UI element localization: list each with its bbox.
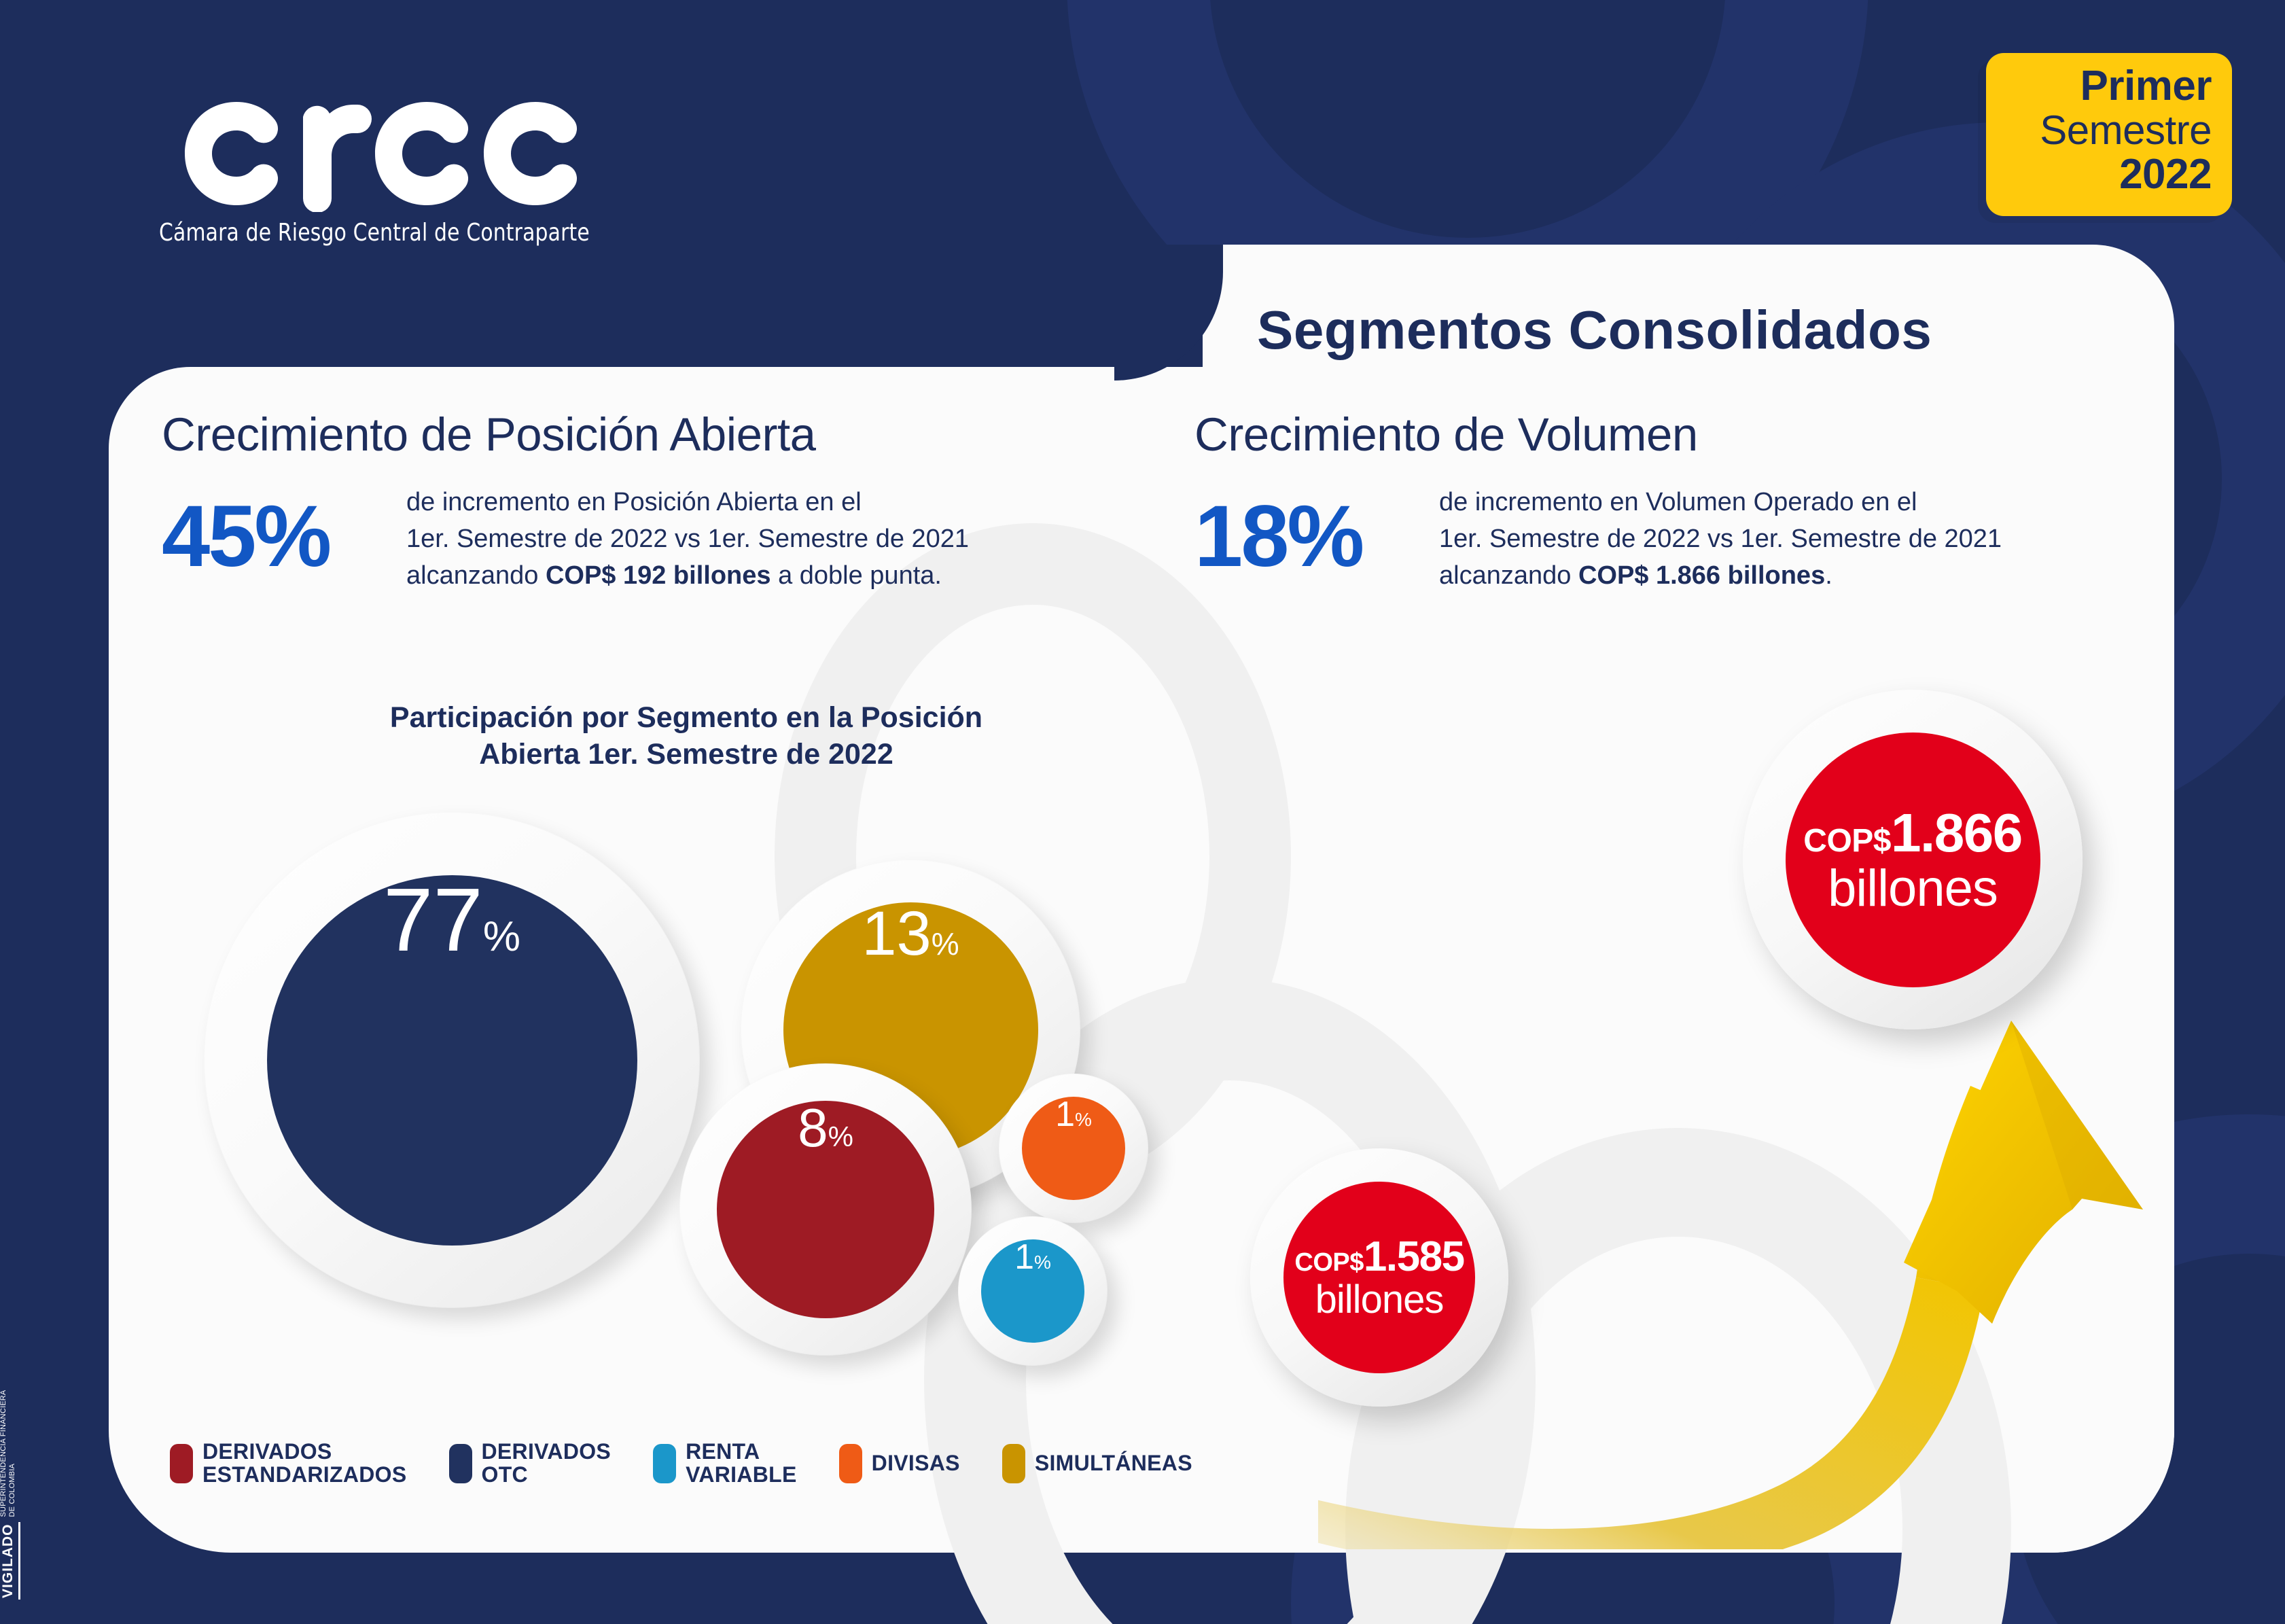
money-bubble-volumen-2021: COP$ 1.585 billones	[1250, 1148, 1508, 1407]
legend-swatch-divisas	[839, 1444, 862, 1483]
money-value-2022: 1.866	[1891, 802, 2022, 864]
pa-line-1: de incremento en Posición Abierta en el	[406, 484, 969, 521]
semester-badge: Primer Semestre 2022	[1986, 53, 2232, 216]
legend-item-derivados-estandarizados: DERIVADOS ESTANDARIZADOS	[170, 1441, 407, 1486]
vol-amount: COP$ 1.866 billones	[1578, 561, 1825, 590]
vigilado-word: VIGILADO	[0, 1522, 20, 1600]
legend-swatch-simultaneas	[1002, 1444, 1025, 1483]
money-unit-2022: billones	[1828, 859, 1998, 918]
money-unit-2021: billones	[1315, 1277, 1444, 1322]
pa-line3-post: a doble punta.	[771, 561, 942, 590]
posicion-abierta-percent: 45%	[162, 478, 406, 578]
volumen-description: de incremento en Volumen Operado en el 1…	[1439, 478, 2002, 595]
bubble-derivados-estandarizados: 8%	[679, 1063, 972, 1356]
pa-amount: COP$ 192 billones	[546, 561, 771, 590]
badge-line-semestre: Semestre	[2000, 110, 2212, 151]
legend-item-simultaneas: SIMULTÁNEAS	[1002, 1444, 1192, 1483]
vol-line3-post: .	[1825, 561, 1832, 590]
bubble-value-estandarizados: 8	[798, 1101, 828, 1155]
volumen-percent: 18%	[1194, 478, 1439, 578]
legend-item-divisas: DIVISAS	[839, 1444, 960, 1483]
pa-line-3: alcanzando COP$ 192 billones a doble pun…	[406, 558, 969, 595]
volumen-stat-block: Crecimiento de Volumen 18% de incremento…	[1194, 408, 2146, 595]
vol-line-3: alcanzando COP$ 1.866 billones.	[1439, 558, 2002, 595]
legend-item-renta-variable: RENTA VARIABLE	[653, 1441, 797, 1486]
vigilado-sub-line1: SUPERINTENDENCIA FINANCIERA	[0, 1390, 8, 1517]
vigilado-strip: VIGILADO SUPERINTENDENCIA FINANCIERA DE …	[20, 1382, 64, 1600]
bubble-value-simultaneas: 13	[862, 902, 931, 965]
legend-label-derivados-estandarizados: DERIVADOS ESTANDARIZADOS	[202, 1441, 407, 1486]
legend-swatch-renta-variable	[653, 1444, 676, 1483]
bubble-value-otc: 77	[383, 875, 483, 965]
bubble-derivados-otc: 77%	[204, 812, 700, 1308]
page-title: Segmentos Consolidados	[1257, 299, 1932, 361]
bubble-unit-otc: %	[483, 916, 520, 958]
bubble-unit-divisas: %	[1075, 1110, 1092, 1129]
badge-line-year: 2022	[2000, 154, 2212, 196]
bubble-value-renta-variable: 1	[1014, 1239, 1034, 1275]
vol-line-2: 1er. Semestre de 2022 vs 1er. Semestre d…	[1439, 521, 2002, 558]
money-value-2021: 1.585	[1364, 1233, 1464, 1281]
segment-legend: DERIVADOS ESTANDARIZADOS DERIVADOS OTC R…	[170, 1441, 1235, 1486]
vol-line3-pre: alcanzando	[1439, 561, 1578, 590]
vigilado-sub-line2: DE COLOMBIA	[8, 1390, 17, 1517]
infographic-root: Cámara de Riesgo Central de Contraparte …	[0, 0, 2285, 1624]
badge-line-primer: Primer	[2000, 65, 2212, 107]
bubble-unit-renta-variable: %	[1034, 1253, 1051, 1272]
bubble-renta-variable: 1%	[958, 1216, 1108, 1366]
legend-label-divisas: DIVISAS	[872, 1452, 960, 1475]
logo-tagline: Cámara de Riesgo Central de Contraparte	[159, 219, 590, 247]
bubble-unit-estandarizados: %	[828, 1123, 853, 1151]
money-bubble-volumen-2022: COP$ 1.866 billones	[1743, 690, 2083, 1029]
posicion-abierta-title: Crecimiento de Posición Abierta	[162, 408, 1140, 461]
money-currency-2021: COP$	[1294, 1248, 1363, 1277]
legend-swatch-derivados-otc	[449, 1444, 472, 1483]
crcc-logotype-icon	[155, 83, 603, 212]
vol-line-1: de incremento en Volumen Operado en el	[1439, 484, 2002, 521]
posicion-abierta-description: de incremento en Posición Abierta en el …	[406, 478, 969, 595]
posicion-abierta-stat-block: Crecimiento de Posición Abierta 45% de i…	[162, 408, 1140, 595]
pa-line3-pre: alcanzando	[406, 561, 546, 590]
bubble-chart-title: Participación por Segmento en la Posició…	[380, 700, 992, 773]
legend-label-derivados-otc: DERIVADOS OTC	[482, 1441, 612, 1486]
legend-swatch-derivados-estandarizados	[170, 1444, 193, 1483]
legend-label-simultaneas: SIMULTÁNEAS	[1035, 1452, 1192, 1475]
legend-label-renta-variable: RENTA VARIABLE	[686, 1441, 797, 1486]
money-currency-2022: COP$	[1803, 822, 1891, 860]
bubble-divisas: 1%	[999, 1074, 1148, 1223]
pa-line-2: 1er. Semestre de 2022 vs 1er. Semestre d…	[406, 521, 969, 558]
volumen-title: Crecimiento de Volumen	[1194, 408, 2146, 461]
legend-item-derivados-otc: DERIVADOS OTC	[449, 1441, 612, 1486]
bubble-value-divisas: 1	[1055, 1097, 1075, 1132]
crcc-logo: Cámara de Riesgo Central de Contraparte	[155, 83, 627, 247]
bubble-unit-simultaneas: %	[932, 928, 959, 959]
